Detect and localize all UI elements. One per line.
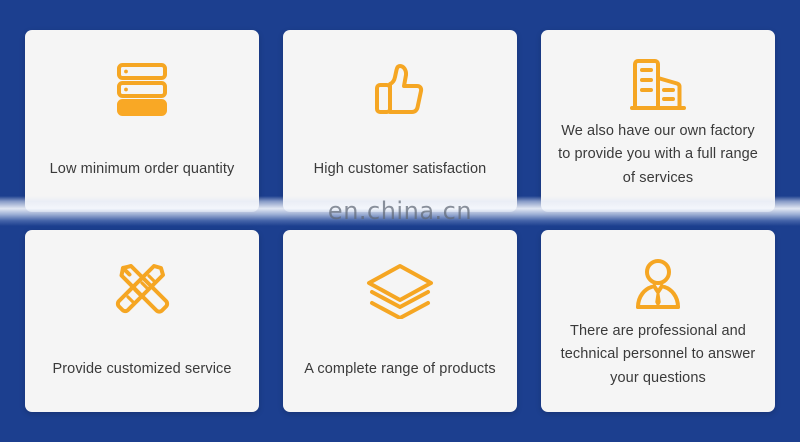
feature-card-low-minimum-order-quantity[interactable]: Low minimum order quantity bbox=[25, 30, 259, 212]
feature-card-label: A complete range of products bbox=[283, 328, 517, 412]
feature-card-complete-range-of-products[interactable]: A complete range of products bbox=[283, 230, 517, 412]
layers-icon bbox=[364, 252, 436, 328]
feature-card-own-factory[interactable]: We also have our own factory to provide … bbox=[541, 30, 775, 212]
feature-card-customized-service[interactable]: Provide customized service bbox=[25, 230, 259, 412]
feature-card-label: Provide customized service bbox=[25, 328, 259, 412]
feature-card-label: Low minimum order quantity bbox=[25, 128, 259, 212]
feature-grid: Low minimum order quantity High customer… bbox=[25, 30, 775, 412]
feature-card-high-customer-satisfaction[interactable]: High customer satisfaction bbox=[283, 30, 517, 212]
feature-card-label: We also have our own factory to provide … bbox=[541, 118, 775, 212]
server-stack-icon bbox=[111, 52, 173, 128]
pencil-ruler-icon bbox=[111, 252, 173, 328]
thumbs-up-icon bbox=[370, 52, 430, 128]
feature-card-label: There are professional and technical per… bbox=[541, 318, 775, 412]
factory-buildings-icon bbox=[629, 52, 687, 118]
feature-panel: Low minimum order quantity High customer… bbox=[0, 0, 800, 442]
feature-card-label: High customer satisfaction bbox=[283, 128, 517, 212]
support-person-icon bbox=[629, 252, 687, 318]
feature-card-professional-personnel[interactable]: There are professional and technical per… bbox=[541, 230, 775, 412]
